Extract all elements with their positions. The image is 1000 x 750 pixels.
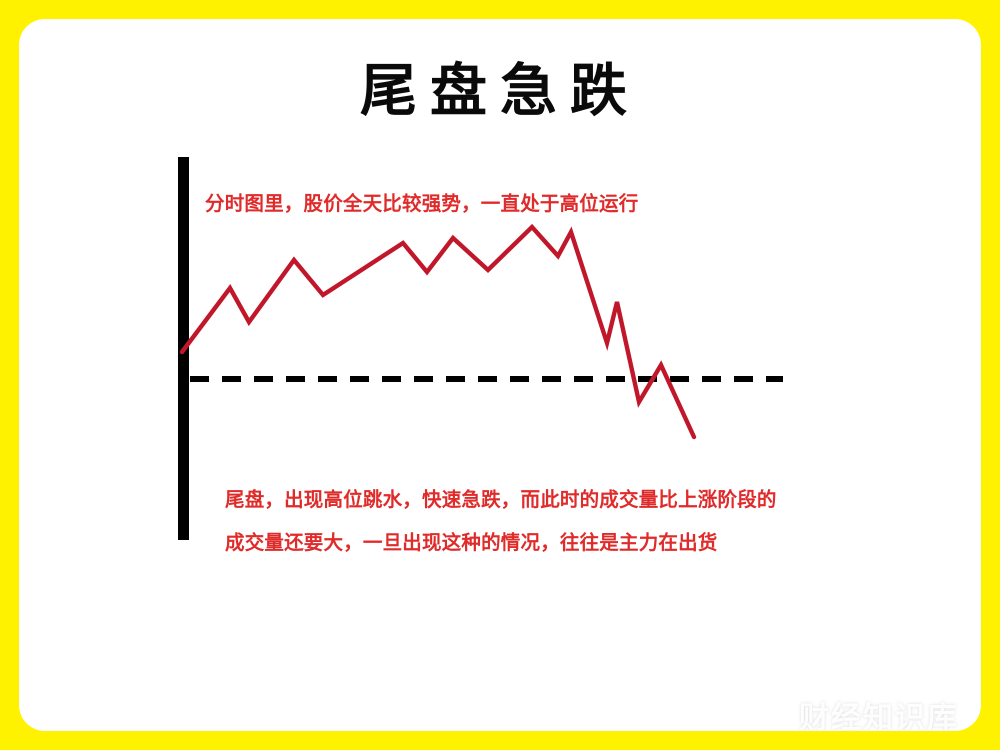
intraday-chart: 分时图里，股价全天比较强势，一直处于高位运行 尾盘，出现高位跳水，快速急跌，而此…	[19, 19, 981, 731]
y-axis-bar	[178, 157, 189, 540]
annotation-top-text: 分时图里，股价全天比较强势，一直处于高位运行	[205, 187, 638, 216]
watermark-text: 财经知识库	[799, 693, 959, 731]
annotation-bottom-line-2: 成交量还要大，一旦出现这种的情况，往往是主力在出货	[225, 522, 777, 565]
price-line-svg	[19, 19, 981, 731]
white-canvas: 尾盘急跌 分时图里，股价全天比较强势，一直处于高位运行 尾盘，出现高位跳水，快速…	[19, 19, 981, 731]
page-root: 尾盘急跌 分时图里，股价全天比较强势，一直处于高位运行 尾盘，出现高位跳水，快速…	[0, 0, 1000, 750]
price-line-path	[182, 227, 694, 437]
annotation-bottom-text: 尾盘，出现高位跳水，快速急跌，而此时的成交量比上涨阶段的 成交量还要大，一旦出现…	[225, 479, 777, 565]
annotation-bottom-line-1: 尾盘，出现高位跳水，快速急跌，而此时的成交量比上涨阶段的	[225, 479, 777, 522]
